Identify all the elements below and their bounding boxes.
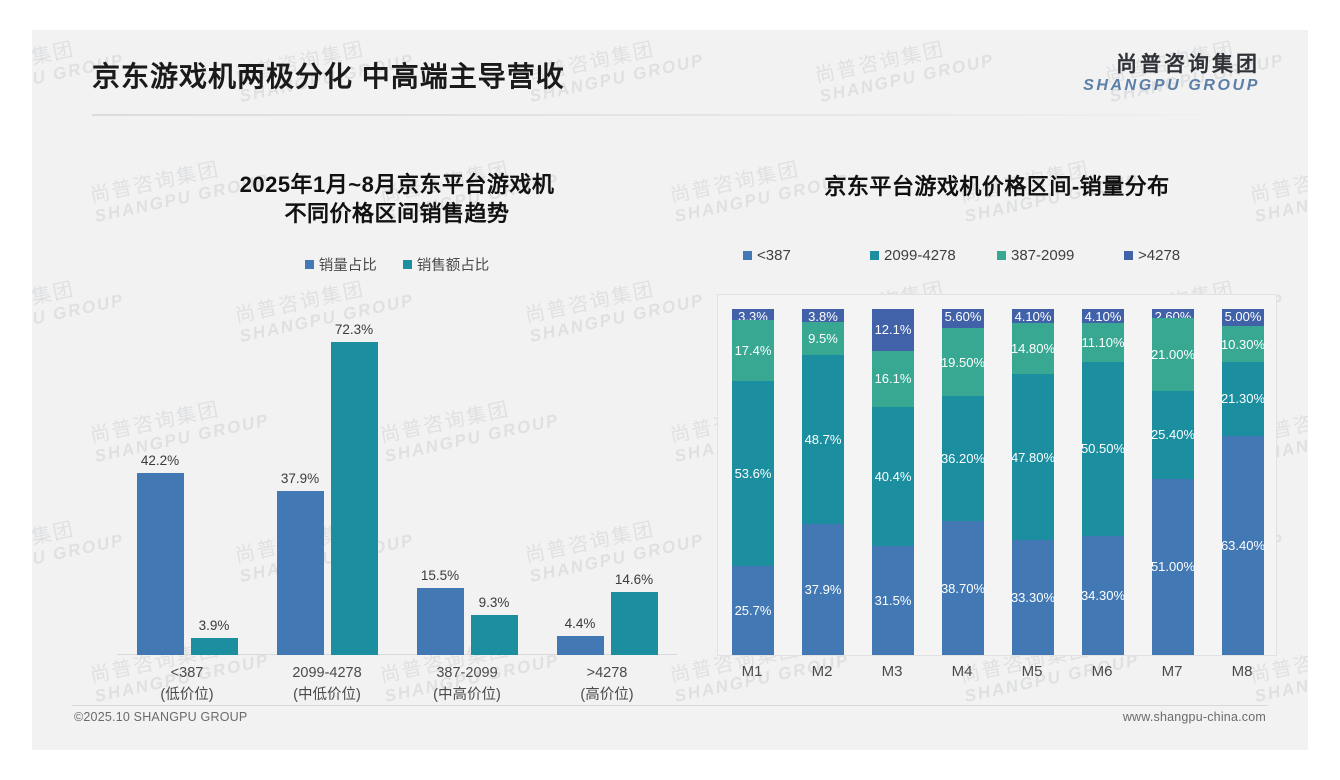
brand-logo-cn: 尚普咨询集团 [1083, 54, 1260, 76]
footer-divider [72, 705, 1268, 706]
legend-label: 2099-4278 [884, 247, 956, 264]
right-stack-segment[interactable]: 63.40% [1222, 436, 1264, 655]
right-stacked-bar[interactable]: 3.8%9.5%48.7%37.9% [802, 309, 844, 655]
right-stack-segment[interactable]: 25.7% [732, 566, 774, 655]
right-stack-segment-label: 63.40% [1221, 539, 1265, 552]
right-stack-segment[interactable]: 5.00% [1222, 309, 1264, 326]
right-stack-segment-label: 21.30% [1221, 392, 1265, 405]
right-stack-segment[interactable]: 17.4% [732, 320, 774, 380]
left-bar-fill [471, 615, 518, 655]
right-stack-segment[interactable]: 25.40% [1152, 391, 1194, 479]
left-bar[interactable]: 9.3% [471, 615, 518, 655]
left-xaxis-tick-range: 387-2099 [397, 663, 537, 685]
right-chart-plot-frame: 3.3%17.4%53.6%25.7%3.8%9.5%48.7%37.9%12.… [717, 294, 1277, 656]
slide-footer: ©2025.10 SHANGPU GROUP www.shangpu-china… [32, 710, 1308, 734]
left-xaxis-tick-tier: (低价位) [117, 685, 257, 707]
left-bar[interactable]: 3.9% [191, 638, 238, 655]
right-stack-segment-label: 5.60% [945, 310, 982, 323]
left-xaxis-tick: 2099-4278(中低价位) [257, 663, 397, 707]
right-stack-segment-label: 51.00% [1151, 560, 1195, 573]
left-xaxis-tick-tier: (高价位) [537, 685, 677, 707]
legend-label: 销售额占比 [417, 254, 490, 275]
right-xaxis-tick: M4 [941, 663, 983, 680]
left-bar[interactable]: 14.6% [611, 592, 658, 655]
right-xaxis-tick: M8 [1221, 663, 1263, 680]
right-stack-segment[interactable]: 53.6% [732, 381, 774, 566]
right-stack-segment[interactable]: 38.70% [942, 521, 984, 655]
right-stack-segment-label: 47.80% [1011, 451, 1055, 464]
left-bar-group: 15.5%9.3% [397, 275, 537, 655]
right-chart-panel: 京东平台游戏机价格区间-销量分布 <3872099-4278387-2099>4… [717, 130, 1277, 720]
right-stack-segment[interactable]: 40.4% [872, 407, 914, 547]
right-stack-segment-label: 38.70% [941, 582, 985, 595]
right-xaxis-tick: M6 [1081, 663, 1123, 680]
legend-item-right-0[interactable]: <387 [743, 247, 870, 264]
legend-swatch-icon [1124, 251, 1133, 260]
right-chart-plot: 3.3%17.4%53.6%25.7%3.8%9.5%48.7%37.9%12.… [718, 295, 1276, 655]
right-stack-segment-label: 21.00% [1151, 348, 1195, 361]
left-bar-fill [331, 342, 378, 655]
right-stack-segment[interactable]: 50.50% [1082, 362, 1124, 537]
right-stack-segment-label: 34.30% [1081, 589, 1125, 602]
right-stack-segment[interactable]: 3.8% [802, 309, 844, 322]
right-stack-segment[interactable]: 16.1% [872, 351, 914, 407]
left-bar-value-label: 37.9% [281, 471, 319, 486]
legend-swatch-icon [305, 260, 314, 269]
right-stack-segment-label: 4.10% [1015, 310, 1052, 323]
watermark-text: 尚普咨询集团SHANGPU GROUP [1102, 743, 1286, 750]
right-stack-segment[interactable]: 34.30% [1082, 536, 1124, 655]
right-stack-segment[interactable]: 11.10% [1082, 323, 1124, 361]
left-bar-fill [277, 491, 324, 655]
right-stack-segment-label: 37.9% [805, 583, 842, 596]
left-xaxis-tick-tier: (中高价位) [397, 685, 537, 707]
left-xaxis-tick-tier: (中低价位) [257, 685, 397, 707]
left-bar[interactable]: 42.2% [137, 473, 184, 656]
left-bar-value-label: 14.6% [615, 572, 653, 587]
left-bar-group: 37.9%72.3% [257, 275, 397, 655]
right-stack-segment-label: 14.80% [1011, 342, 1055, 355]
left-bar[interactable]: 37.9% [277, 491, 324, 655]
legend-label: 销量占比 [319, 254, 377, 275]
left-chart-title-line2: 不同价格区间销售趋势 [92, 199, 702, 228]
right-stack-segment[interactable]: 5.60% [942, 309, 984, 328]
right-stack-segment[interactable]: 37.9% [802, 524, 844, 655]
legend-label: <387 [757, 247, 791, 264]
right-stack-segment-label: 36.20% [941, 452, 985, 465]
legend-swatch-icon [870, 251, 879, 260]
right-stack-segment-label: 25.40% [1151, 428, 1195, 441]
right-stack-segment[interactable]: 4.10% [1012, 309, 1054, 323]
footer-website: www.shangpu-china.com [1123, 710, 1266, 724]
left-bar-fill [417, 588, 464, 655]
right-stack-segment-label: 3.8% [808, 310, 838, 323]
right-stack-segment-label: 50.50% [1081, 442, 1125, 455]
left-bar[interactable]: 15.5% [417, 588, 464, 655]
right-stack-segment[interactable]: 9.5% [802, 322, 844, 355]
left-bar-value-label: 72.3% [335, 322, 373, 337]
left-bar-fill [137, 473, 184, 656]
brand-logo-en: SHANGPU GROUP [1083, 77, 1260, 95]
left-chart-title: 2025年1月~8月京东平台游戏机 不同价格区间销售趋势 [92, 130, 702, 228]
right-stacked-bar[interactable]: 4.10%11.10%50.50%34.30% [1082, 309, 1124, 655]
left-bar-value-label: 42.2% [141, 453, 179, 468]
right-stack-segment[interactable]: 33.30% [1012, 540, 1054, 655]
right-stack-segment[interactable]: 47.80% [1012, 374, 1054, 539]
right-stack-segment[interactable]: 21.30% [1222, 362, 1264, 436]
legend-item-left-1[interactable]: 销售额占比 [403, 254, 490, 275]
right-xaxis-tick: M2 [801, 663, 843, 680]
right-stack-segment[interactable]: 4.10% [1082, 309, 1124, 323]
left-chart-panel: 2025年1月~8月京东平台游戏机 不同价格区间销售趋势 销量占比销售额占比 4… [92, 130, 702, 720]
right-xaxis-tick: M5 [1011, 663, 1053, 680]
right-stack-segment[interactable]: 51.00% [1152, 479, 1194, 655]
right-stack-segment[interactable]: 14.80% [1012, 323, 1054, 374]
legend-item-left-0[interactable]: 销量占比 [305, 254, 377, 275]
left-bar-fill [557, 636, 604, 655]
watermark-text: 尚普咨询集团SHANGPU GROUP [812, 743, 996, 750]
right-stacked-bar[interactable]: 12.1%16.1%40.4%31.5% [872, 309, 914, 655]
page-title: 京东游戏机两极分化 中高端主导营收 [92, 55, 565, 95]
left-bar-fill [611, 592, 658, 655]
right-chart-title: 京东平台游戏机价格区间-销量分布 [717, 130, 1277, 201]
left-xaxis-tick: >4278(高价位) [537, 663, 677, 707]
legend-swatch-icon [403, 260, 412, 269]
right-xaxis-tick: M7 [1151, 663, 1193, 680]
right-stack-segment[interactable]: 21.00% [1152, 318, 1194, 391]
legend-item-right-3[interactable]: >4278 [1124, 247, 1251, 264]
right-stack-segment-label: 53.6% [735, 467, 772, 480]
right-stacked-bar[interactable]: 5.00%10.30%21.30%63.40% [1222, 309, 1264, 655]
right-stack-segment-label: 19.50% [941, 356, 985, 369]
legend-swatch-icon [743, 251, 752, 260]
left-xaxis-tick-range: <387 [117, 663, 257, 685]
right-stack-segment-label: 17.4% [735, 344, 772, 357]
right-stacked-bar[interactable]: 2.60%21.00%25.40%51.00% [1152, 309, 1194, 655]
legend-label: 387-2099 [1011, 247, 1074, 264]
left-chart-title-line1: 2025年1月~8月京东平台游戏机 [92, 170, 702, 199]
right-stack-segment-label: 48.7% [805, 433, 842, 446]
left-bar[interactable]: 72.3% [331, 342, 378, 655]
watermark-text: 尚普咨询集团SHANGPU GROUP [32, 743, 126, 750]
slide-header: 京东游戏机两极分化 中高端主导营收 尚普咨询集团 SHANGPU GROUP [32, 30, 1308, 120]
watermark-text: 尚普咨询集团SHANGPU GROUP [232, 743, 416, 750]
left-xaxis-tick: <387(低价位) [117, 663, 257, 707]
legend-item-right-1[interactable]: 2099-4278 [870, 247, 997, 264]
right-stack-segment-label: 16.1% [875, 372, 912, 385]
right-stack-segment-label: 40.4% [875, 470, 912, 483]
left-bar-value-label: 9.3% [479, 595, 510, 610]
left-bar-value-label: 3.9% [199, 618, 230, 633]
slide-card: 尚普咨询集团SHANGPU GROUP尚普咨询集团SHANGPU GROUP尚普… [32, 30, 1308, 750]
left-chart-plot: 42.2%3.9%37.9%72.3%15.5%9.3%4.4%14.6% [117, 275, 677, 655]
left-chart-legend: 销量占比销售额占比 [92, 254, 702, 275]
right-stack-segment-label: 33.30% [1011, 591, 1055, 604]
right-stack-segment-label: 31.5% [875, 594, 912, 607]
right-stack-segment[interactable]: 12.1% [872, 309, 914, 351]
left-bar-value-label: 4.4% [565, 616, 596, 631]
right-stacked-bar[interactable]: 3.3%17.4%53.6%25.7% [732, 309, 774, 655]
right-chart-xaxis: M1M2M3M4M5M6M7M8 [717, 656, 1277, 690]
right-stack-segment-label: 4.10% [1085, 310, 1122, 323]
left-xaxis-tick-range: 2099-4278 [257, 663, 397, 685]
right-stack-segment-label: 9.5% [808, 332, 838, 345]
right-stack-segment[interactable]: 48.7% [802, 355, 844, 524]
watermark-text: 尚普咨询集团SHANGPU GROUP [522, 743, 706, 750]
right-stack-segment-label: 12.1% [875, 323, 912, 336]
right-stack-segment[interactable]: 31.5% [872, 546, 914, 655]
left-bar-group: 42.2%3.9% [117, 275, 257, 655]
right-stack-segment[interactable]: 2.60% [1152, 309, 1194, 318]
right-stack-segment[interactable]: 19.50% [942, 328, 984, 395]
right-stack-segment-label: 5.00% [1225, 310, 1262, 323]
right-stack-segment[interactable]: 36.20% [942, 396, 984, 521]
footer-copyright: ©2025.10 SHANGPU GROUP [74, 710, 247, 724]
left-bar-group: 4.4%14.6% [537, 275, 677, 655]
legend-item-right-2[interactable]: 387-2099 [997, 247, 1124, 264]
right-stack-segment-label: 11.10% [1081, 336, 1124, 349]
right-stack-segment-label: 25.7% [735, 604, 772, 617]
left-bar[interactable]: 4.4% [557, 636, 604, 655]
left-bar-fill [191, 638, 238, 655]
legend-label: >4278 [1138, 247, 1180, 264]
left-bar-value-label: 15.5% [421, 568, 459, 583]
right-chart-legend: <3872099-4278387-2099>4278 [717, 247, 1277, 264]
left-xaxis-tick-range: >4278 [537, 663, 677, 685]
right-stack-segment[interactable]: 10.30% [1222, 326, 1264, 362]
left-xaxis-tick: 387-2099(中高价位) [397, 663, 537, 707]
right-xaxis-tick: M1 [731, 663, 773, 680]
slide: 尚普咨询集团SHANGPU GROUP尚普咨询集团SHANGPU GROUP尚普… [0, 0, 1340, 780]
legend-swatch-icon [997, 251, 1006, 260]
right-stacked-bar[interactable]: 4.10%14.80%47.80%33.30% [1012, 309, 1054, 655]
right-xaxis-tick: M3 [871, 663, 913, 680]
right-stack-segment-label: 10.30% [1221, 338, 1265, 351]
right-stack-segment[interactable]: 3.3% [732, 309, 774, 320]
brand-logo: 尚普咨询集团 SHANGPU GROUP [1083, 54, 1260, 95]
right-stacked-bar[interactable]: 5.60%19.50%36.20%38.70% [942, 309, 984, 655]
